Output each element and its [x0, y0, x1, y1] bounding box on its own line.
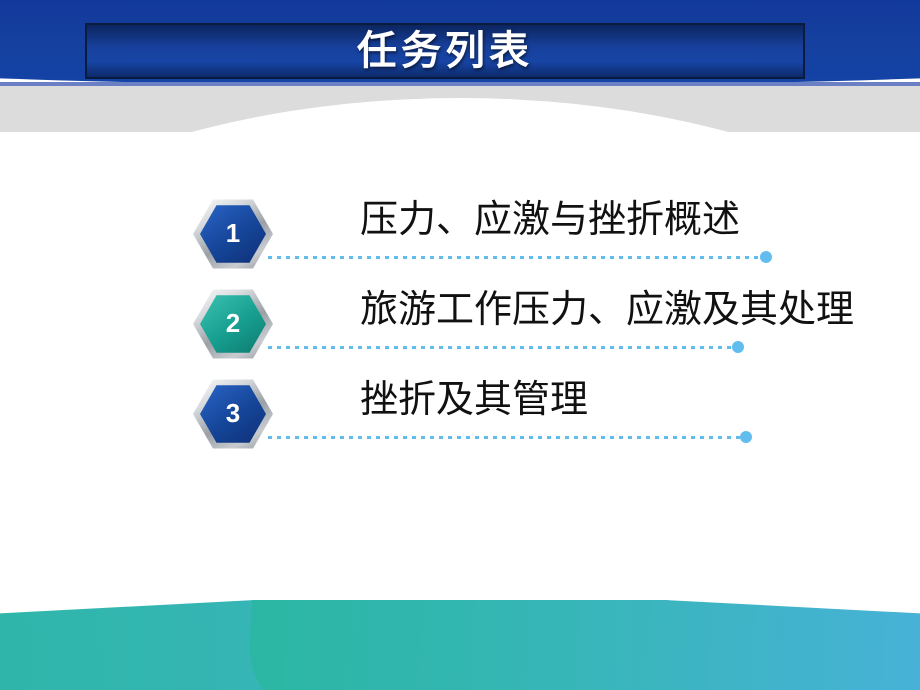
list-item[interactable]: 2 旅游工作压力、应激及其处理 — [0, 280, 920, 370]
slide-canvas: 任务列表 1 压力、应激与挫折概述 2 旅游工作压力、应激及其 — [0, 0, 920, 690]
title-box: 任务列表 — [85, 23, 805, 79]
dotted-connector — [268, 346, 732, 349]
list-item-label: 压力、应激与挫折概述 — [360, 196, 740, 244]
page-title: 任务列表 — [357, 31, 533, 71]
list-item-label: 旅游工作压力、应激及其处理 — [360, 286, 854, 334]
item-number: 2 — [226, 310, 240, 336]
dot-endpoint — [732, 341, 744, 353]
hexagon-badge-2: 2 — [193, 288, 273, 360]
item-number: 3 — [226, 400, 240, 426]
list-item[interactable]: 1 压力、应激与挫折概述 — [0, 190, 920, 280]
footer-curve-right — [241, 600, 920, 690]
dotted-connector — [268, 436, 740, 439]
hexagon-badge-1: 1 — [193, 198, 273, 270]
list-item[interactable]: 3 挫折及其管理 — [0, 370, 920, 460]
item-number: 1 — [226, 220, 240, 246]
footer-decoration — [0, 600, 920, 690]
dot-endpoint — [760, 251, 772, 263]
hexagon-badge-3: 3 — [193, 378, 273, 450]
dot-endpoint — [740, 431, 752, 443]
list-item-label: 挫折及其管理 — [360, 376, 588, 424]
dotted-connector — [268, 256, 760, 259]
task-list: 1 压力、应激与挫折概述 2 旅游工作压力、应激及其处理 3 — [0, 190, 920, 460]
